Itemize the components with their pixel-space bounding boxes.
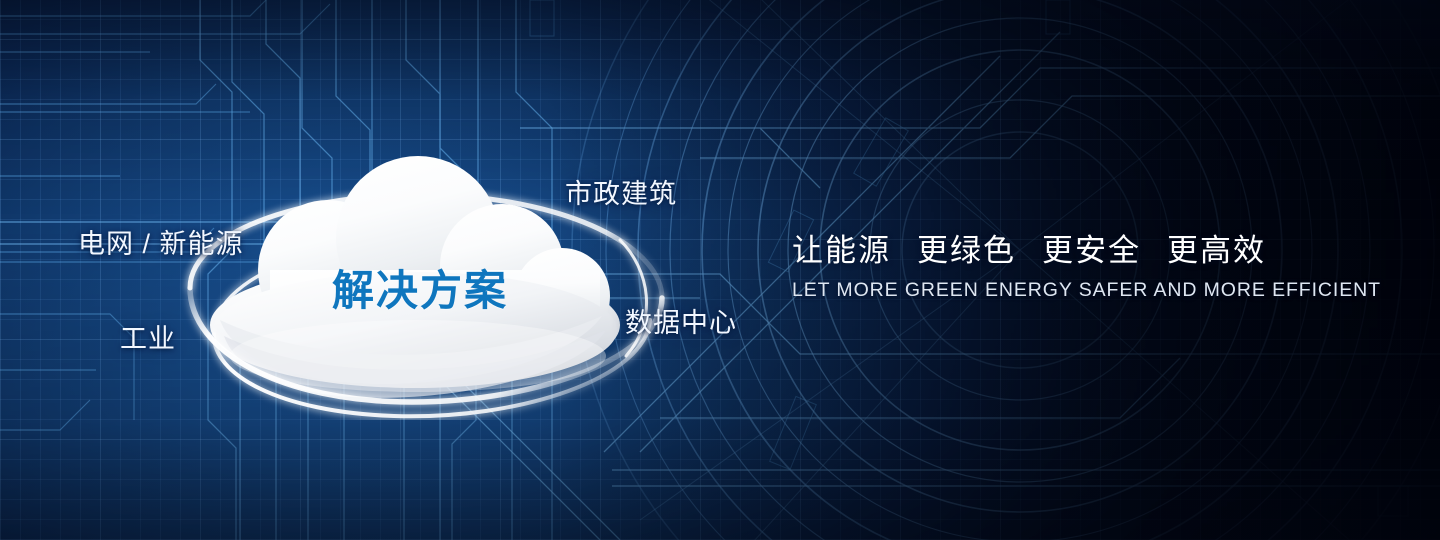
slogan-english: LET MORE GREEN ENERGY SAFER AND MORE EFF… [792,279,1352,302]
slogan-block: 让能源更绿色更安全更高效 LET MORE GREEN ENERGY SAFER… [792,225,1352,302]
slogan-part-0: 让能源 [792,225,891,270]
label-grid-new-energy: 电网 / 新能源 [78,222,244,261]
label-industry: 工业 [120,317,176,356]
slogan-chinese: 让能源更绿色更安全更高效 [792,225,1352,270]
label-municipal-building: 市政建筑 [565,172,677,211]
solution-banner: 电网 / 新能源 工业 市政建筑 数据中心 解决方案 让能源更绿色更安全更高效 … [0,0,1440,540]
slogan-part-2: 更安全 [1042,225,1141,270]
slogan-part-3: 更高效 [1167,225,1266,270]
slogan-part-1: 更绿色 [917,225,1016,270]
cloud-title: 解决方案 [332,257,508,318]
label-data-center: 数据中心 [625,301,737,340]
